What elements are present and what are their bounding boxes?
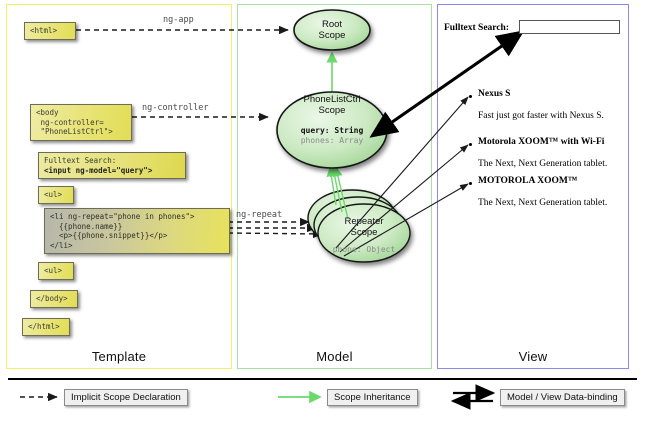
phone-snippet: The Next, Next Generation tablet. [478, 198, 607, 208]
list-bullet [469, 143, 472, 146]
phone-name: Nexus S [478, 89, 510, 99]
phonelistctrl-scope-label: PhoneListCtrl Scope [282, 94, 382, 116]
repeater-scope-prop-phone: phone: Object [318, 245, 410, 255]
diagram-canvas: Template Model View [0, 0, 645, 425]
code-box-ul-open: <ul> [38, 186, 74, 204]
edge-ng-repeat [228, 222, 322, 234]
legend-model-view-data-binding: Model / View Data-binding [500, 389, 625, 406]
root-scope-label: Root Scope [302, 19, 362, 41]
code-box-body-tag: <body ng-controller= "PhoneListCtrl"> [30, 104, 132, 141]
fulltext-search-line2: <input ng-model="query"> [44, 166, 152, 175]
phone-snippet: Fast just got faster with Nexus S. [478, 111, 604, 121]
phonelistctrl-scope-prop-query: query: String [282, 126, 382, 136]
phonelistctrl-scope-prop-phones: phones: Array [282, 136, 382, 146]
legend-implicit-scope-declaration: Implicit Scope Declaration [64, 389, 188, 406]
code-box-ul-close: <ul> [38, 262, 74, 280]
legend-scope-inheritance: Scope Inheritance [327, 389, 418, 406]
phone-name: MOTOROLA XOOM™ [478, 176, 577, 186]
phone-name: Motorola XOOM™ with Wi-Fi [478, 137, 604, 147]
edge-label-ng-app: ng-app [163, 15, 194, 25]
legend-glyph-databinding [453, 393, 493, 401]
phone-snippet: The Next, Next Generation tablet. [478, 159, 607, 169]
code-box-li-repeat: <li ng-repeat="phone in phones"> {{phone… [44, 208, 230, 254]
view-search-input[interactable] [519, 20, 620, 34]
code-box-html-tag: <html> [24, 22, 76, 40]
list-bullet [469, 182, 472, 185]
repeater-scope-label: Repeater Scope [322, 216, 406, 238]
view-search-label: Fulltext Search: [444, 23, 509, 33]
code-box-fulltext-search: Fulltext Search: <input ng-model="query"… [38, 152, 186, 179]
code-box-html-close: </html> [22, 318, 70, 336]
fulltext-search-line1: Fulltext Search: [44, 156, 116, 165]
list-bullet [469, 95, 472, 98]
legend-divider [8, 378, 637, 380]
edge-label-ng-repeat: ng-repeat [236, 210, 282, 220]
code-box-body-close: </body> [30, 290, 78, 308]
edge-label-ng-controller: ng-controller [142, 103, 209, 113]
